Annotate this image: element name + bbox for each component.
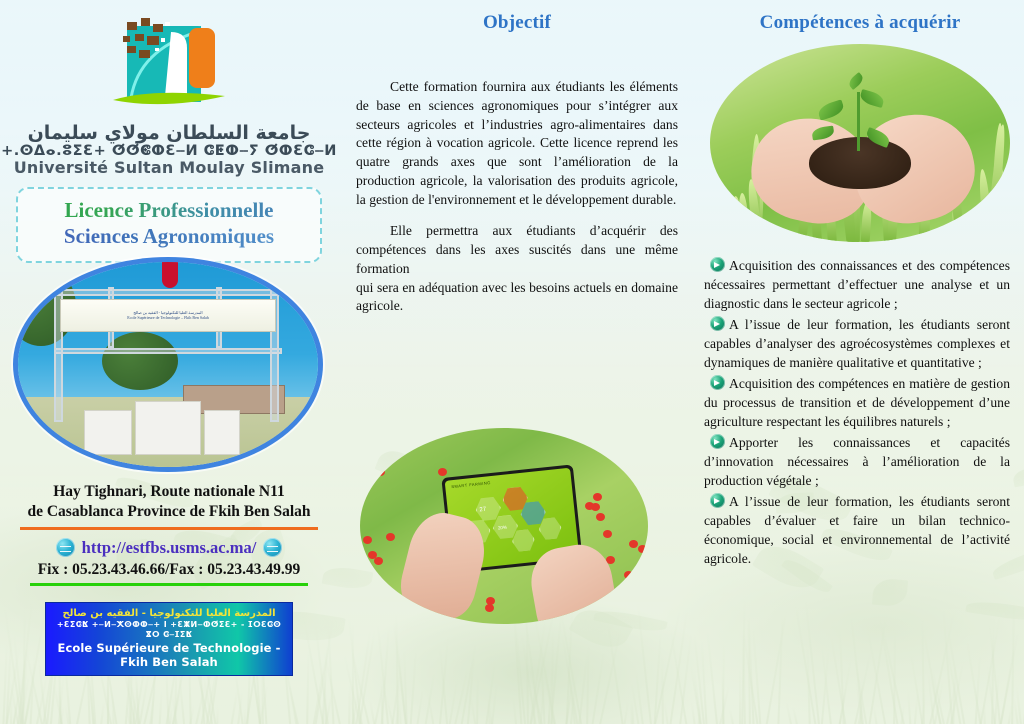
gate-photo-banner: المدرسة العليا للتكنولوجيا - الفقيه بن ص… — [60, 299, 276, 332]
competence-item-text: Acquisition des connaissances et des com… — [704, 258, 1010, 311]
competence-item-text: Acquisition des compétences en matière d… — [704, 376, 1010, 429]
est-fkih-ben-salah-logo: المدرسة العليا للتكنولوجيا - الفقيه بن ص… — [45, 602, 293, 676]
globe-icon-left — [56, 538, 75, 557]
programme-title-box: Licence Professionnelle Sciences Agronom… — [16, 187, 322, 263]
objectif-text: Cette formation fournira aux étudiants l… — [356, 78, 678, 316]
seedling-photo-stem — [857, 92, 860, 151]
poppy-flower — [367, 612, 376, 620]
university-branding: جامعة السلطان مولاي سليمان +.ⵙⵠⴰ.ⵓⵉƐ+ ⵚⵚ… — [0, 0, 338, 177]
gate-photo-truss-top — [54, 289, 282, 296]
competence-item-text: Apporter les connaissances et capacités … — [704, 435, 1010, 488]
seedling-photo-soil — [809, 137, 911, 188]
university-name-french: Université Sultan Moulay Slimane — [0, 158, 338, 177]
orange-divider — [20, 527, 318, 530]
est-logo-arabic: المدرسة العليا للتكنولوجيا - الفقيه بن ص… — [52, 608, 286, 619]
competence-item: A l’issue de leur formation, les étudian… — [704, 315, 1010, 372]
gate-photo-flag — [162, 262, 178, 288]
arrow-bullet-icon — [710, 493, 725, 508]
objectif-paragraph-3-text: qui sera en adéquation avec les besoins … — [356, 280, 678, 314]
competence-item: Apporter les connaissances et capacités … — [704, 433, 1010, 490]
objectif-paragraph-3: qui sera en adéquation avec les besoins … — [356, 279, 678, 317]
gate-photo-wall-3 — [204, 410, 240, 455]
competence-item-text: A l’issue de leur formation, les étudian… — [704, 317, 1010, 370]
arrow-bullet-icon — [710, 257, 725, 272]
programme-line-2: Sciences Agronomiques — [24, 223, 314, 250]
campus-gate-photo: المدرسة العليا للتكنولوجيا - الفقيه بن ص… — [18, 262, 318, 467]
poppy-flower — [374, 557, 383, 565]
address-block: Hay Tighnari, Route nationale N11 de Cas… — [0, 482, 338, 676]
poppy-flower — [585, 502, 594, 510]
poppy-flower — [376, 468, 385, 476]
green-divider — [30, 583, 308, 586]
tablet-reading-temp: 27 — [480, 507, 487, 514]
competence-item: Acquisition des connaissances et des com… — [704, 256, 1010, 313]
gate-photo-wall-1 — [84, 410, 132, 455]
objectif-paragraph-1-text: Cette formation fournira aux étudiants l… — [356, 79, 678, 207]
gate-banner-french: Ecole Supérieure de Technologie – Fkih B… — [127, 315, 209, 320]
competences-list: Acquisition des connaissances et des com… — [704, 256, 1010, 569]
arrow-bullet-icon — [710, 316, 725, 331]
university-name-tifinagh: +.ⵙⵠⴰ.ⵓⵉƐ+ ⵚⵚⵞⵀƐⵧⵍ ⵛⵟⵀⵧⵢ ⵚⵀƐⵛⵧⵍ — [0, 143, 338, 159]
poppy-flower — [368, 551, 377, 559]
hands-holding-seedling-photo — [710, 44, 1010, 242]
poppy-flower — [630, 612, 639, 620]
poppy-flower — [386, 533, 395, 541]
middle-column: Objectif Cette formation fournira aux ét… — [338, 0, 696, 724]
objectif-paragraph-2-text: Elle permettra aux étudiants d’acquérir … — [356, 223, 678, 276]
programme-line-1: Licence Professionnelle — [24, 197, 314, 223]
address-line-2: de Casablanca Province de Fkih Ben Salah — [0, 502, 338, 522]
poppy-flower — [644, 592, 648, 600]
arrow-bullet-icon — [710, 375, 725, 390]
globe-icon-right — [263, 538, 282, 557]
objectif-paragraph-2: Elle permettra aux étudiants d’acquérir … — [356, 222, 678, 278]
right-column: Compétences à acquérir Acquisition des c… — [696, 0, 1024, 724]
objectif-heading: Objectif — [338, 12, 696, 34]
gate-photo-wall-2 — [135, 401, 201, 454]
objectif-paragraph-1: Cette formation fournira aux étudiants l… — [356, 78, 678, 209]
competence-item: Acquisition des compétences en matière d… — [704, 374, 1010, 431]
university-name-arabic: جامعة السلطان مولاي سليمان — [0, 122, 338, 144]
website-url[interactable]: http://estfbs.usms.ac.ma/ — [82, 538, 257, 558]
address-line-1: Hay Tighnari, Route nationale N11 — [0, 482, 338, 502]
competences-heading: Compétences à acquérir — [696, 12, 1024, 34]
smart-farming-tablet-photo: SMART FARMING 27 20% — [360, 428, 648, 624]
usms-university-logo — [105, 14, 233, 118]
est-logo-french: Ecole Supérieure de Technologie - Fkih B… — [52, 641, 286, 669]
website-line[interactable]: http://estfbs.usms.ac.ma/ — [0, 538, 338, 558]
left-column: جامعة السلطان مولاي سليمان +.ⵙⵠⴰ.ⵓⵉƐ+ ⵚⵚ… — [0, 0, 338, 724]
gate-photo-truss-cross — [54, 348, 282, 354]
poppy-flower — [438, 468, 447, 476]
tablet-screen-title: SMART FARMING — [451, 480, 491, 489]
competence-item: A l’issue de leur formation, les étudian… — [704, 492, 1010, 568]
arrow-bullet-icon — [710, 434, 725, 449]
phone-fax-line: Fix : 05.23.43.46.66/Fax : 05.23.43.49.9… — [0, 561, 338, 579]
est-logo-tifinagh: +Ɛⵉⵛⴿ +ⵧⵍⵧⵅⵙⵀⵀⵧ+ Ⅰ +ƐⵥⵍⵧⵀⵚⵉƐ+ - ⵊⵔƐⵛⵙ ⴵⵔ… — [52, 620, 286, 640]
usms-logo-svg — [105, 14, 233, 118]
competence-item-text: A l’issue de leur formation, les étudian… — [704, 494, 1010, 566]
